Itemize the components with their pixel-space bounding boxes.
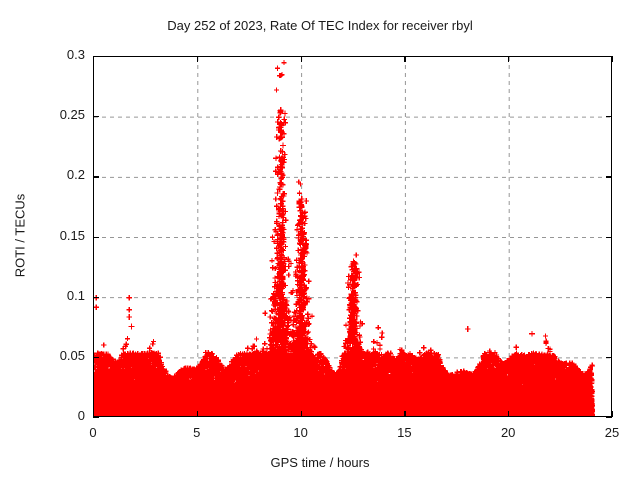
y-tick-mark — [606, 357, 612, 358]
y-tick-label: 0 — [25, 408, 85, 423]
y-tick-mark — [93, 116, 99, 117]
x-tick-mark — [508, 56, 509, 62]
x-tick-mark — [508, 411, 509, 417]
y-tick-mark — [93, 417, 99, 418]
y-tick-mark — [93, 297, 99, 298]
x-tick-mark — [404, 56, 405, 62]
y-tick-mark — [93, 237, 99, 238]
y-tick-label: 0.1 — [25, 288, 85, 303]
plot-area — [93, 56, 612, 417]
x-tick-label: 0 — [63, 425, 123, 440]
x-tick-label: 25 — [582, 425, 640, 440]
x-tick-label: 10 — [271, 425, 331, 440]
roti-scatter-figure: Day 252 of 2023, Rate Of TEC Index for r… — [0, 0, 640, 480]
scatter-canvas — [94, 57, 612, 417]
y-tick-mark — [606, 176, 612, 177]
chart-title: Day 252 of 2023, Rate Of TEC Index for r… — [0, 18, 640, 33]
x-tick-mark — [301, 56, 302, 62]
x-axis-label: GPS time / hours — [0, 455, 640, 470]
y-tick-mark — [606, 237, 612, 238]
x-tick-mark — [612, 56, 613, 62]
y-tick-mark — [93, 176, 99, 177]
x-tick-label: 20 — [478, 425, 538, 440]
data-points — [94, 60, 595, 417]
y-tick-label: 0.25 — [25, 107, 85, 122]
x-tick-label: 15 — [374, 425, 434, 440]
x-tick-label: 5 — [167, 425, 227, 440]
x-tick-mark — [301, 411, 302, 417]
y-tick-mark — [93, 357, 99, 358]
y-tick-label: 0.15 — [25, 228, 85, 243]
x-tick-mark — [93, 56, 94, 62]
y-tick-label: 0.3 — [25, 47, 85, 62]
x-tick-mark — [197, 411, 198, 417]
x-tick-mark — [612, 411, 613, 417]
y-tick-mark — [606, 116, 612, 117]
x-tick-mark — [197, 56, 198, 62]
y-tick-mark — [606, 297, 612, 298]
x-tick-mark — [93, 411, 94, 417]
y-tick-mark — [606, 417, 612, 418]
y-tick-label: 0.2 — [25, 167, 85, 182]
x-tick-mark — [404, 411, 405, 417]
y-tick-label: 0.05 — [25, 348, 85, 363]
